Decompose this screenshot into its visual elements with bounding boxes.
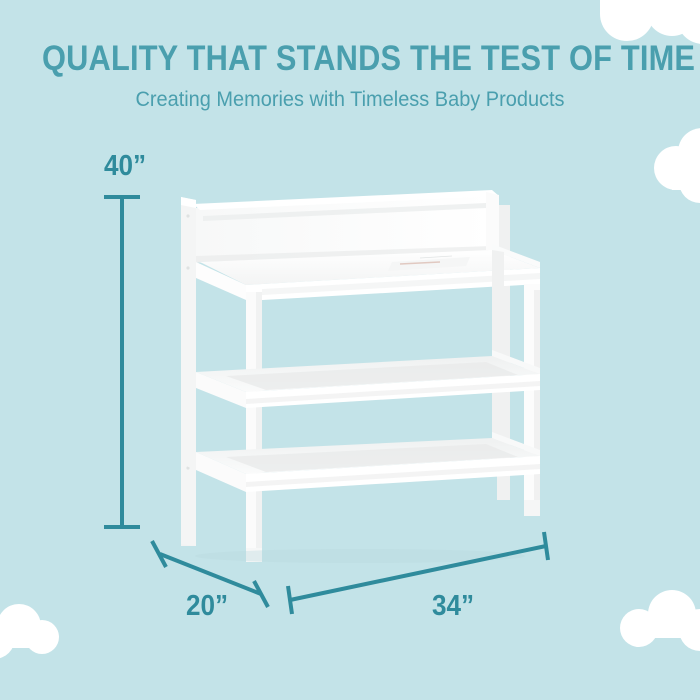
page-title: QUALITY THAT STANDS THE TEST OF TIME [42,40,658,78]
dimension-label-height: 40” [104,151,146,181]
marketing-graphic: QUALITY THAT STANDS THE TEST OF TIME Cre… [0,0,700,700]
text-layer: QUALITY THAT STANDS THE TEST OF TIME Cre… [0,0,700,700]
dimension-label-width: 34” [432,591,474,621]
dimension-label-depth: 20” [186,591,228,621]
page-subtitle: Creating Memories with Timeless Baby Pro… [18,86,683,114]
